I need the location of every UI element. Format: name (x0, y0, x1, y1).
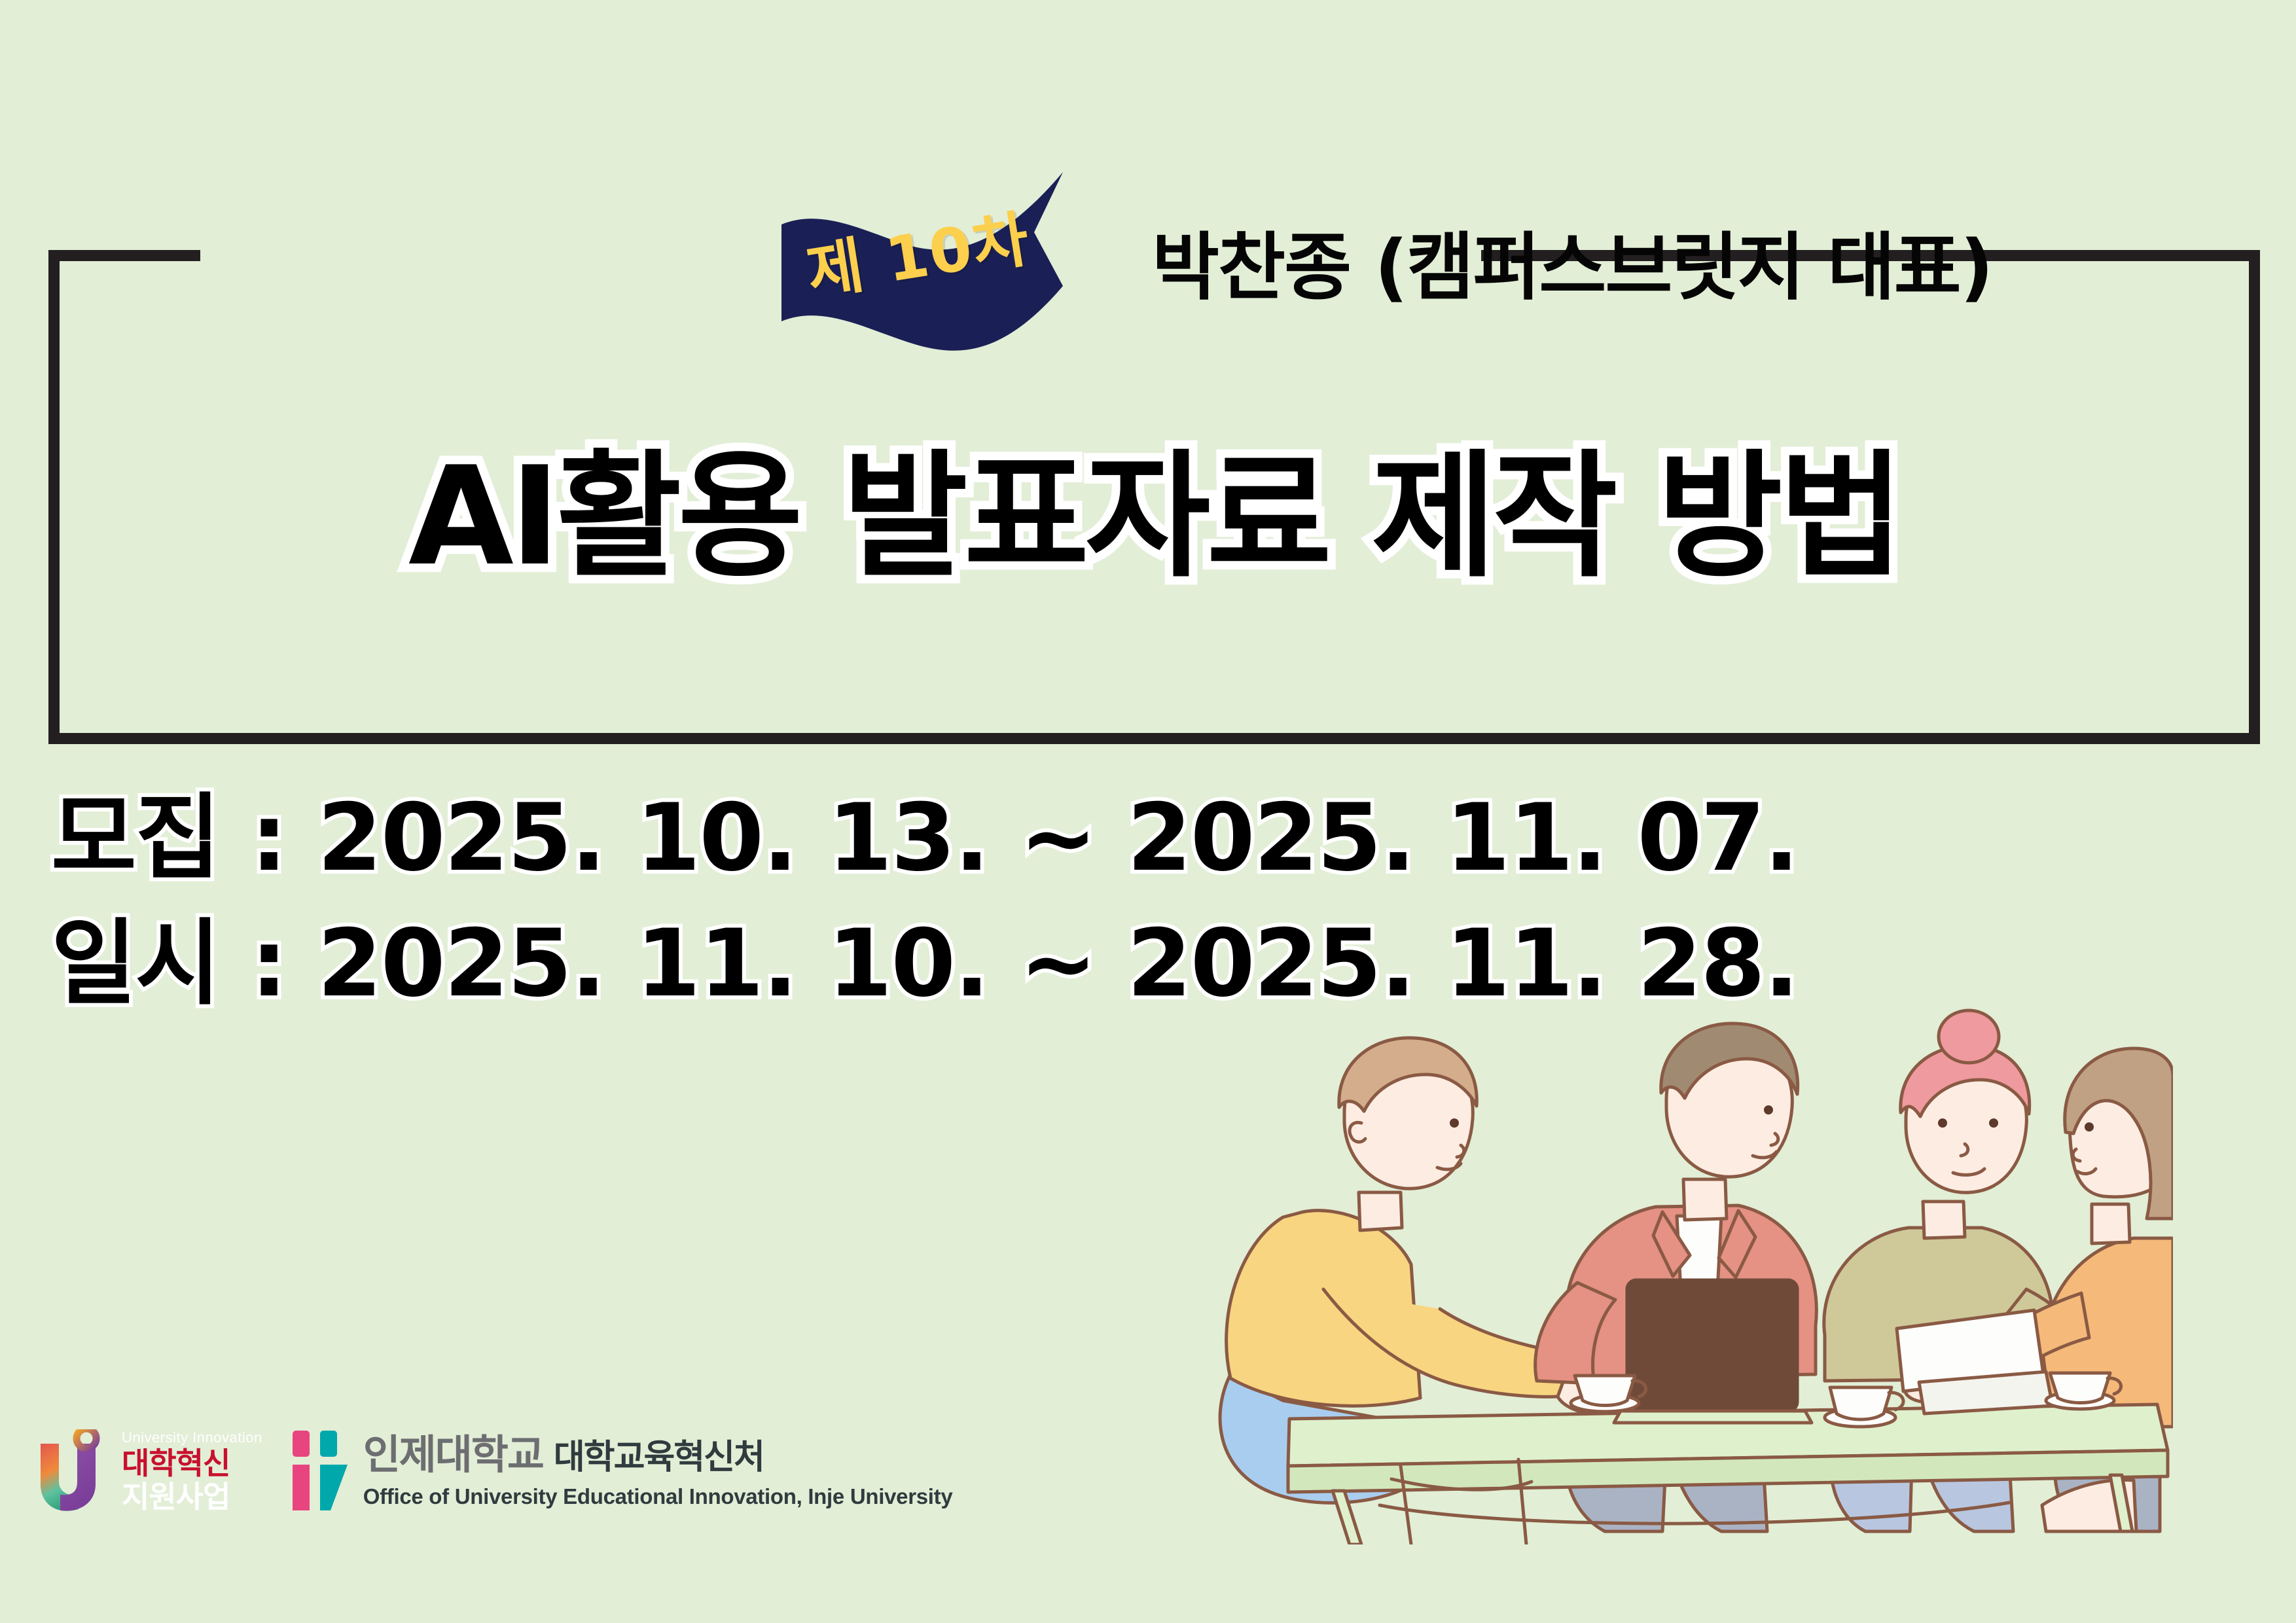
university-innovation-wordmark: University Innovation 대학혁신 지원사업 (122, 1431, 262, 1512)
paper-sheet (1897, 1310, 2053, 1414)
frame-left-bar (48, 250, 60, 744)
speaker-name: 박찬종 (캠퍼스브릿지 대표) (1152, 208, 1992, 314)
inje-wordmark: 인제대학교 대학교육혁신처 Office of University Educa… (363, 1435, 953, 1507)
footer-logos: University Innovation 대학혁신 지원사업 인제대학교 대학… (37, 1428, 952, 1513)
frame-right-bar (2249, 250, 2260, 744)
group-meeting-illustration (1204, 1008, 2173, 1544)
ui-korean-line-1: 대학혁신 (122, 1448, 262, 1478)
university-innovation-logo: University Innovation 대학혁신 지원사업 (37, 1429, 262, 1513)
poster-canvas: 제 10차 박찬종 (캠퍼스브릿지 대표) AI활용 발표자료 제작 방법 모집… (0, 0, 2296, 1623)
ui-english-label: University Innovation (122, 1431, 262, 1445)
inje-english-name: Office of University Educational Innovat… (363, 1486, 953, 1507)
page-title: AI활용 발표자료 제작 방법 (60, 406, 2249, 603)
coffee-cup (1825, 1387, 1903, 1427)
inje-university-name: 인제대학교 (363, 1435, 543, 1475)
inje-mark-icon (291, 1428, 351, 1513)
ribbon-label: 제 10차 (800, 189, 1035, 312)
schedule-block: 모집 : 2025. 10. 13. ~ 2025. 11. 07. 일시 : … (51, 776, 1798, 1026)
frame-bottom-bar (48, 733, 2260, 744)
recruit-period: 모집 : 2025. 10. 13. ~ 2025. 11. 07. (51, 776, 1798, 901)
inje-university-logo: 인제대학교 대학교육혁신처 Office of University Educa… (291, 1428, 953, 1513)
laptop (1614, 1280, 1812, 1423)
table (1288, 1404, 2168, 1544)
frame-top-left-bar (48, 250, 200, 261)
session-number-ribbon: 제 10차 (761, 160, 1075, 340)
ui-korean-line-2: 지원사업 (122, 1482, 262, 1512)
inje-office-name: 대학교육혁신처 (554, 1440, 764, 1474)
university-innovation-mark-icon (37, 1429, 114, 1513)
